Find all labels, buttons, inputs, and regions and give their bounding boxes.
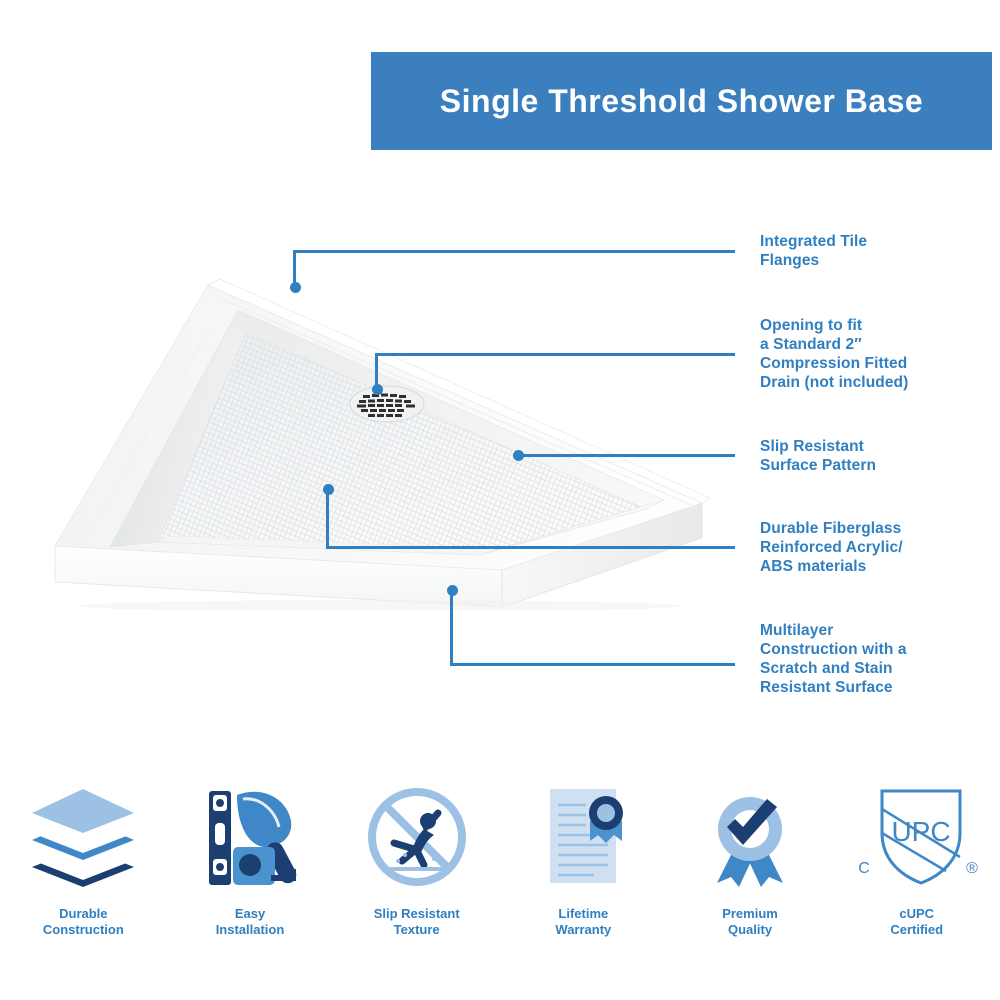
upc-shield-icon: UPC C ® (852, 775, 982, 900)
callout-drain-opening: Opening to fit a Standard 2″ Compression… (760, 316, 908, 392)
leader-line-multilayer-construction-vertical (450, 590, 453, 666)
infographic-canvas: Single Threshold Shower Base (0, 0, 1000, 1000)
feature-lifetime-warranty: Lifetime Warranty (500, 775, 667, 938)
callout-durable-materials: Durable Fiberglass Reinforced Acrylic/ A… (760, 519, 903, 576)
feature-label-easy-installation: Easy Installation (216, 906, 285, 938)
no-slip-icon (358, 775, 476, 900)
leader-line-durable-materials-horizontal (326, 546, 735, 549)
callout-dot-durable-materials (323, 484, 334, 495)
feature-cupc-certified: UPC C ® cUPC Certified (833, 775, 1000, 938)
header-banner: Single Threshold Shower Base (371, 52, 992, 150)
certificate-icon (524, 775, 642, 900)
callout-dot-multilayer-construction (447, 585, 458, 596)
leader-line-integrated-tile-flanges-horizontal (293, 250, 735, 253)
leader-line-drain-opening-horizontal (375, 353, 735, 356)
upc-left-mark: C (858, 860, 870, 877)
feature-badges-row: Durable Construction (0, 775, 1000, 975)
product-illustration (50, 270, 710, 610)
leader-line-durable-materials-vertical (326, 489, 329, 549)
feature-easy-installation: Easy Installation (167, 775, 334, 938)
upc-registered-mark: ® (966, 860, 978, 877)
leader-line-slip-resistant-surface-horizontal (518, 454, 735, 457)
leader-line-multilayer-construction-horizontal (450, 663, 735, 666)
award-check-ribbon-icon (691, 775, 809, 900)
feature-premium-quality: Premium Quality (667, 775, 834, 938)
feature-label-premium-quality: Premium Quality (722, 906, 778, 938)
level-trowel-tools-icon (191, 775, 309, 900)
shower-base-drawing (50, 270, 710, 610)
callout-multilayer-construction: Multilayer Construction with a Scratch a… (760, 621, 907, 697)
feature-label-durable-construction: Durable Construction (43, 906, 124, 938)
callout-dot-integrated-tile-flanges (290, 282, 301, 293)
feature-slip-resistant-texture: Slip Resistant Texture (333, 775, 500, 938)
feature-durable-construction: Durable Construction (0, 775, 167, 938)
callout-slip-resistant-surface-pattern: Slip Resistant Surface Pattern (760, 437, 876, 475)
callout-dot-drain-opening (372, 384, 383, 395)
upc-shield-text: UPC (891, 816, 950, 847)
feature-label-cupc-certified: cUPC Certified (890, 906, 943, 938)
feature-label-lifetime-warranty: Lifetime Warranty (555, 906, 611, 938)
drain-opening-graphic (350, 386, 424, 422)
page-title: Single Threshold Shower Base (440, 83, 923, 120)
callout-integrated-tile-flanges: Integrated Tile Flanges (760, 232, 867, 270)
feature-label-slip-resistant-texture: Slip Resistant Texture (374, 906, 460, 938)
callout-dot-slip-resistant-surface (513, 450, 524, 461)
stacked-layers-icon (24, 775, 142, 900)
